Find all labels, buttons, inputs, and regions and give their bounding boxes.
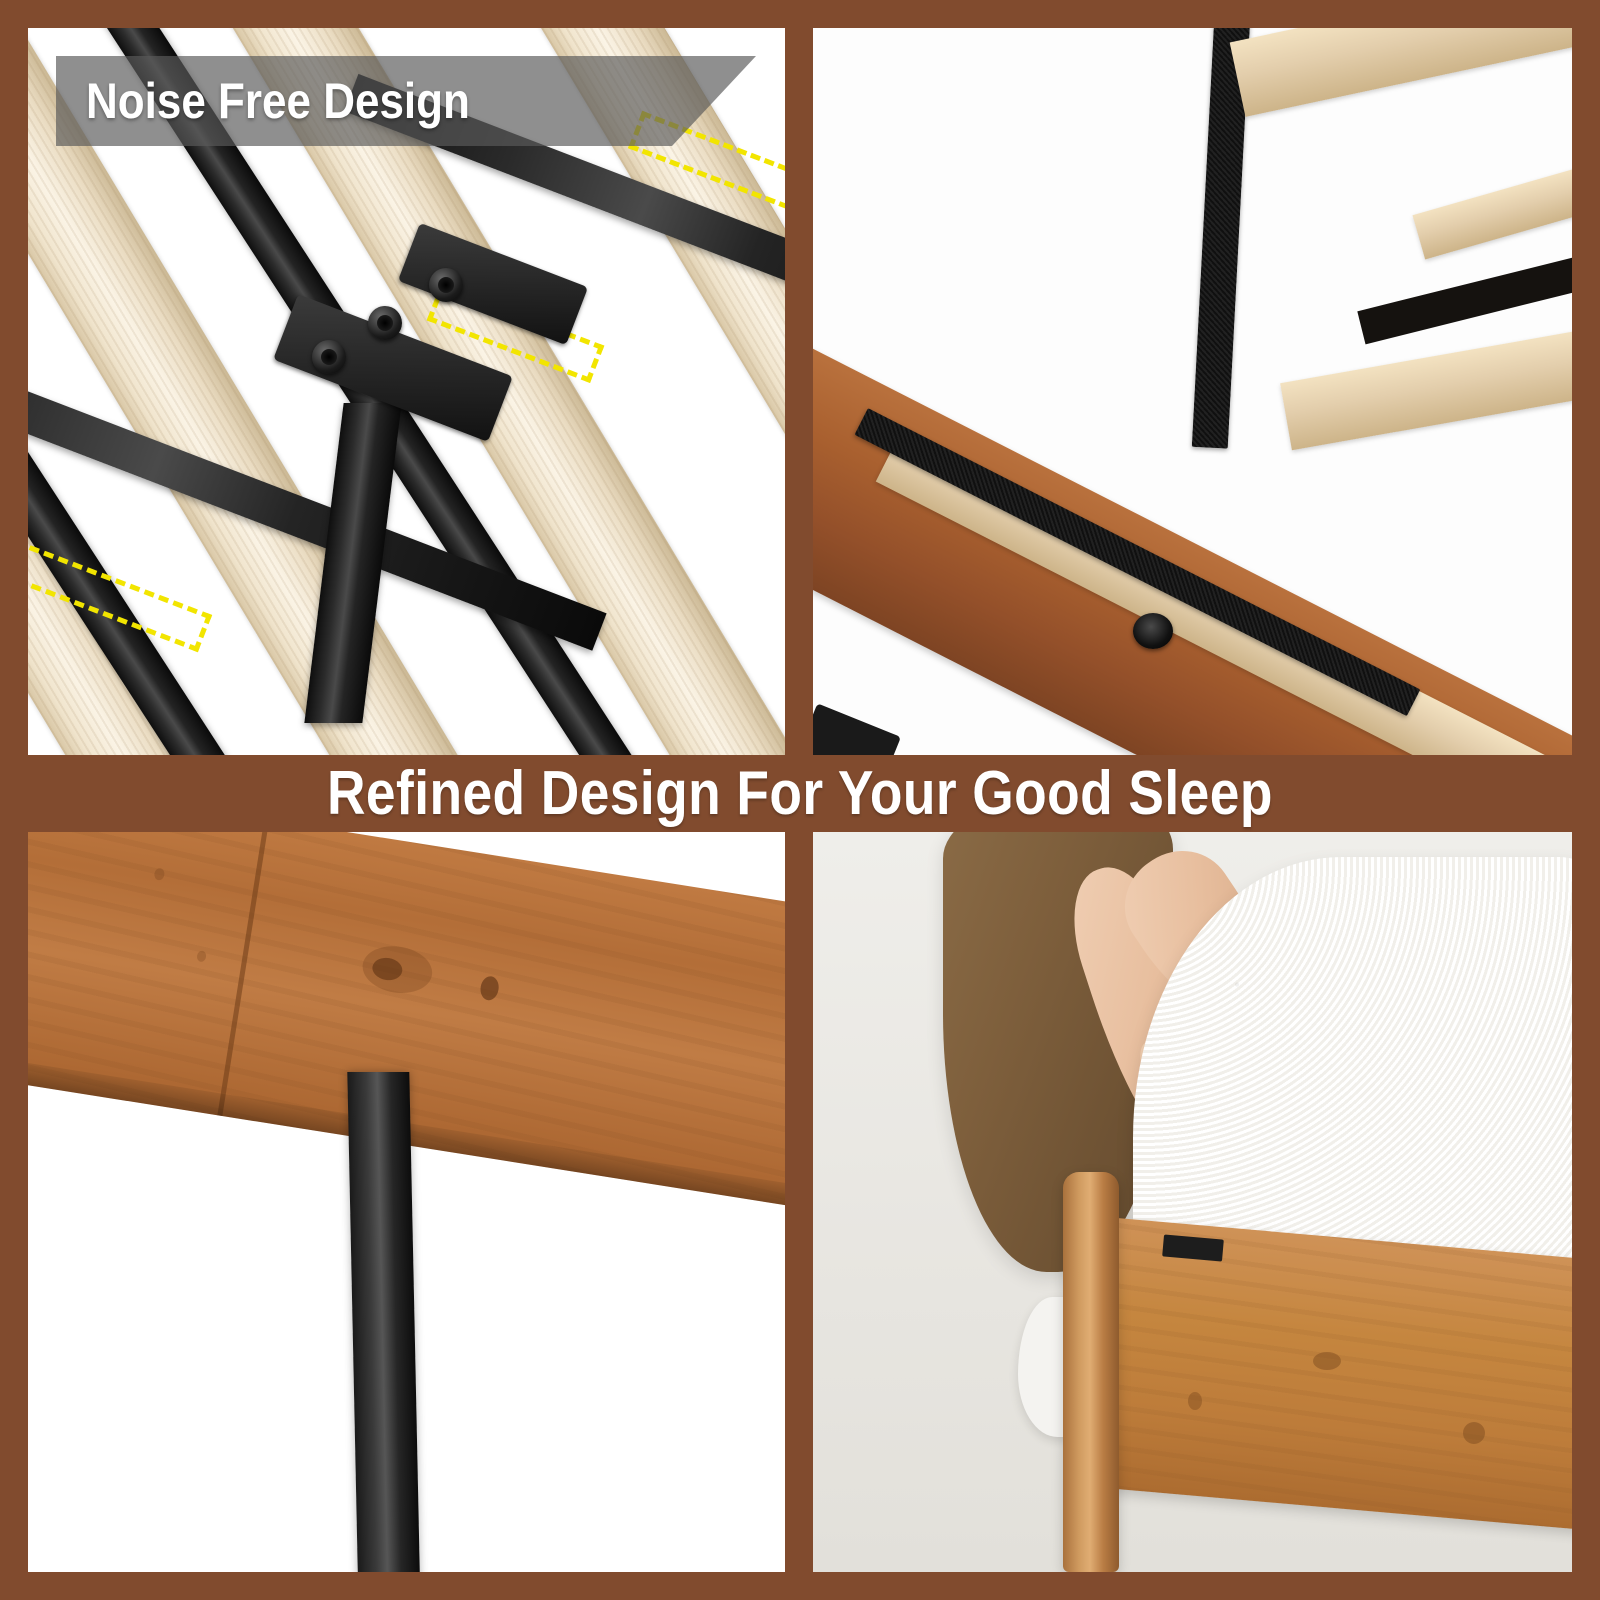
bed-rail-knot <box>1188 1392 1202 1410</box>
panel-bottom-right: Firmly In Place <box>813 832 1572 1572</box>
black-metal-support-leg[interactable] <box>347 1072 420 1572</box>
panel-top-left: Noise Free Design <box>28 28 785 755</box>
panel-bottom-left: Reinforced Support Legs <box>28 832 785 1572</box>
bed-rail-knot <box>1313 1352 1341 1370</box>
label-text: Noise Free Design <box>86 76 470 126</box>
photo-magic-stick-fit <box>813 28 1572 755</box>
bed-rail-knot <box>1463 1422 1485 1444</box>
panel-top-right: Magic Stick fit <box>813 28 1572 755</box>
black-screw-icon <box>1133 613 1173 649</box>
hex-bolt-icon <box>429 268 463 302</box>
photo-firmly-in-place <box>813 832 1572 1572</box>
rail-seam <box>217 832 269 1116</box>
wood-grain <box>196 950 207 962</box>
label-noise-free-design: Noise Free Design <box>56 56 756 146</box>
product-feature-collage: Noise Free Design Magi <box>0 0 1600 1600</box>
hex-bolt-icon <box>368 306 402 340</box>
tapered-wood-leg[interactable] <box>1063 1172 1119 1572</box>
wood-bed-rail <box>1092 1218 1572 1532</box>
headline-text: Refined Design For Your Good Sleep <box>327 763 1273 825</box>
center-headline-banner: Refined Design For Your Good Sleep <box>0 755 1600 832</box>
photo-reinforced-support-legs <box>28 832 785 1572</box>
wood-grain <box>153 867 165 880</box>
wood-grain <box>479 975 501 1002</box>
hex-bolt-icon <box>312 340 346 374</box>
